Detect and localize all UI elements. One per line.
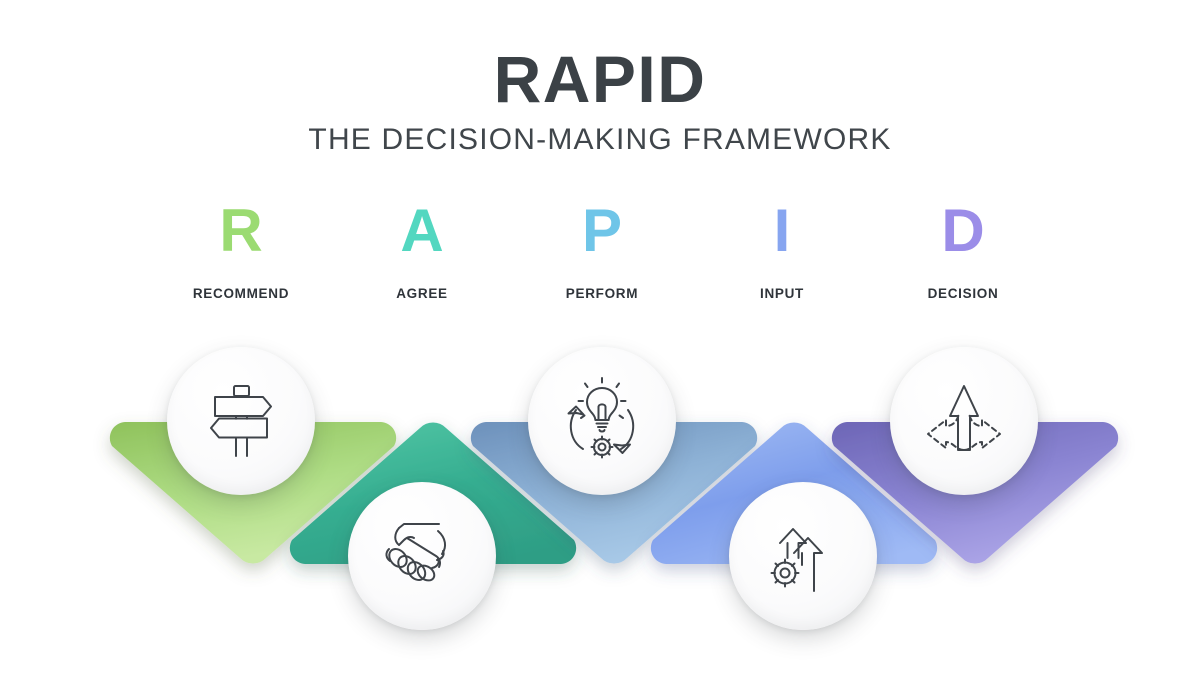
arrows-up-gear-icon (759, 512, 847, 600)
header: RAPID THE DECISION-MAKING FRAMEWORK (0, 0, 1200, 157)
page-subtitle: THE DECISION-MAKING FRAMEWORK (0, 113, 1200, 157)
icon-circle-agree[interactable] (348, 482, 496, 630)
infographic-canvas: RAPID THE DECISION-MAKING FRAMEWORK R RE… (0, 0, 1200, 675)
signpost-icon (197, 377, 285, 465)
letter-col-recommend[interactable]: R RECOMMEND (151, 198, 331, 301)
step-label-input: INPUT (692, 286, 872, 301)
letter-col-decision[interactable]: D DECISION (873, 198, 1053, 301)
icon-circle-perform[interactable] (528, 347, 676, 495)
step-label-agree: AGREE (332, 286, 512, 301)
step-letters-row: R RECOMMEND A AGREE P PERFORM I INPUT D … (0, 198, 1200, 318)
big-letter-i: I (692, 198, 872, 264)
icon-circle-recommend[interactable] (167, 347, 315, 495)
rapid-diagram (0, 330, 1200, 670)
letter-col-perform[interactable]: P PERFORM (512, 198, 692, 301)
step-label-perform: PERFORM (512, 286, 692, 301)
letter-col-input[interactable]: I INPUT (692, 198, 872, 301)
page-title: RAPID (0, 0, 1200, 113)
icon-circle-input[interactable] (729, 482, 877, 630)
big-letter-a: A (332, 198, 512, 264)
lightbulb-gear-cycle-icon (556, 375, 648, 467)
big-letter-d: D (873, 198, 1053, 264)
step-label-decision: DECISION (873, 286, 1053, 301)
step-label-recommend: RECOMMEND (151, 286, 331, 301)
big-letter-r: R (151, 198, 331, 264)
icon-circle-decision[interactable] (890, 347, 1038, 495)
big-letter-p: P (512, 198, 692, 264)
three-way-arrow-icon (916, 378, 1012, 464)
handshake-icon (377, 511, 467, 601)
letter-col-agree[interactable]: A AGREE (332, 198, 512, 301)
